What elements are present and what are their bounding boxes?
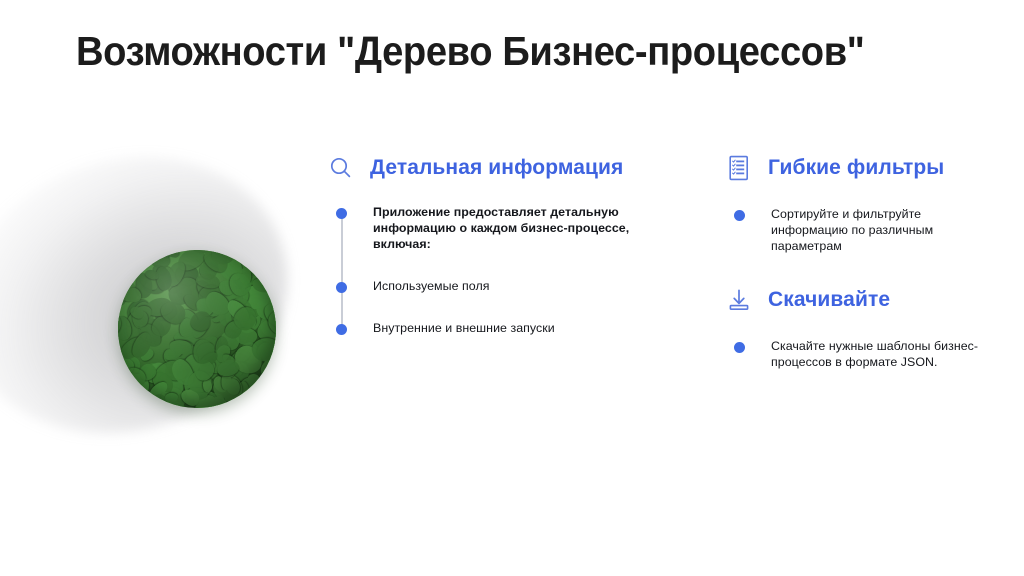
list-item-text: Сортируйте и фильтруйте информацию по ра…: [771, 206, 994, 254]
bullet-dot-icon: [336, 324, 347, 335]
section-heading-label: Гибкие фильтры: [768, 156, 944, 180]
list-item-text: Приложение предоставляет детальную инфор…: [373, 204, 656, 252]
search-icon: [326, 152, 356, 184]
list-item-text: Скачайте нужные шаблоны бизнес-процессов…: [771, 338, 994, 370]
section-heading-label: Детальная информация: [370, 156, 623, 180]
list-item-text: Внутренние и внешние запуски: [373, 320, 555, 336]
bullet-list-flexible-filters: Сортируйте и фильтруйте информацию по ра…: [724, 206, 994, 254]
list-item: Сортируйте и фильтруйте информацию по ра…: [724, 206, 994, 254]
bullet-dot-icon: [336, 282, 347, 293]
section-heading-detailed-info: Детальная информация: [326, 152, 656, 184]
section-heading-flexible-filters: Гибкие фильтры: [724, 152, 994, 184]
section-spacer: [724, 254, 994, 284]
bush-rim-shading: [118, 250, 276, 408]
list-item: Скачайте нужные шаблоны бизнес-процессов…: [724, 338, 994, 370]
list-item: Используемые поля: [326, 278, 656, 294]
slide-canvas: Возможности "Дерево Бизнес-процессов" Де…: [0, 0, 1024, 576]
checklist-icon: [724, 152, 754, 184]
list-item: Приложение предоставляет детальную инфор…: [326, 204, 656, 252]
column-detailed-info: Детальная информация Приложение предоста…: [326, 152, 656, 336]
bullet-dot-icon: [734, 342, 745, 353]
list-item-text: Используемые поля: [373, 278, 489, 294]
column-filters-and-downloads: Гибкие фильтры Сортируйте и фильтруйте и…: [724, 152, 994, 370]
bullet-dot-icon: [734, 210, 745, 221]
bullet-dot-icon: [336, 208, 347, 219]
bullet-list-downloads: Скачайте нужные шаблоны бизнес-процессов…: [724, 338, 994, 370]
section-heading-downloads: Скачивайте: [724, 284, 994, 316]
page-title: Возможности "Дерево Бизнес-процессов": [76, 26, 894, 76]
bush-sphere: [118, 250, 276, 408]
download-icon: [724, 284, 754, 316]
list-item: Внутренние и внешние запуски: [326, 320, 656, 336]
bullet-list-detailed-info: Приложение предоставляет детальную инфор…: [326, 204, 656, 336]
bush-illustration: [0, 150, 330, 450]
section-heading-label: Скачивайте: [768, 288, 890, 312]
